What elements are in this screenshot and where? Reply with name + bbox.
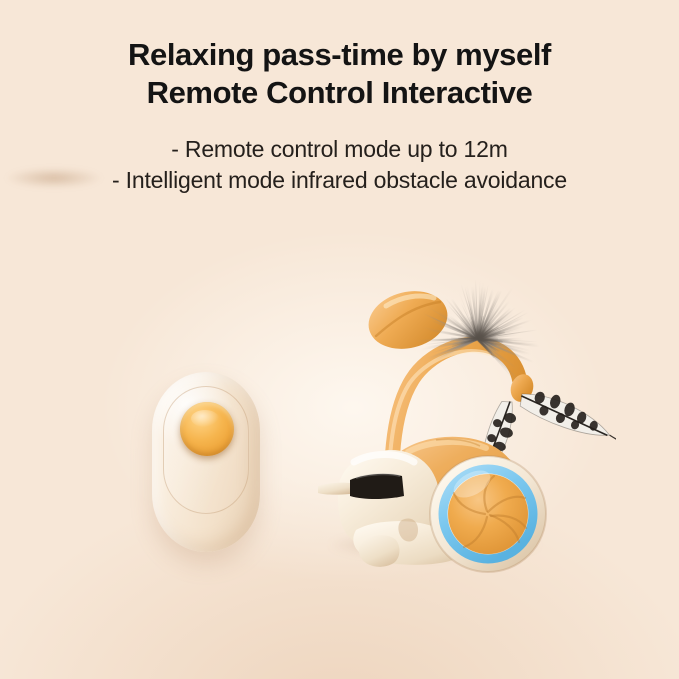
text-block: Relaxing pass-time by myself Remote Cont… xyxy=(0,36,679,196)
front-foot xyxy=(359,535,399,567)
headline: Relaxing pass-time by myself Remote Cont… xyxy=(0,36,679,112)
remote-control-handset xyxy=(152,372,260,552)
subtitle-line-1: - Remote control mode up to 12m xyxy=(0,134,679,165)
subtitle-line-2: - Intelligent mode infrared obstacle avo… xyxy=(0,165,679,196)
product-poster: Relaxing pass-time by myself Remote Cont… xyxy=(0,0,679,679)
remote-power-button[interactable] xyxy=(180,402,234,456)
sensor-arm xyxy=(318,483,350,495)
drive-wheel xyxy=(430,456,546,572)
headline-line-2: Remote Control Interactive xyxy=(0,74,679,112)
interactive-cat-toy-robot xyxy=(316,262,616,580)
headline-line-1: Relaxing pass-time by myself xyxy=(0,36,679,74)
subtitle-list: - Remote control mode up to 12m - Intell… xyxy=(0,134,679,196)
remote-ground-shadow xyxy=(6,168,102,188)
button-gloss-highlight xyxy=(191,410,219,427)
